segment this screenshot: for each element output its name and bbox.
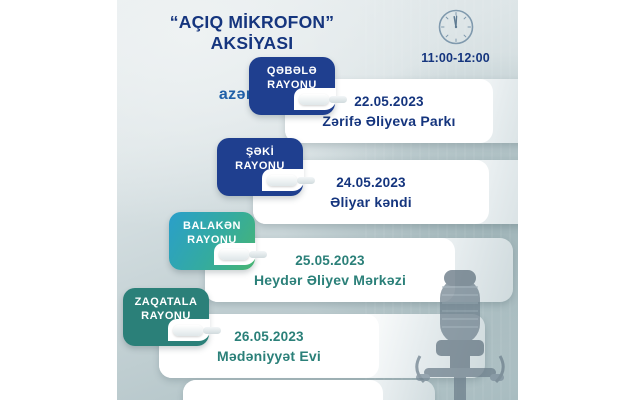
microphone-icon	[394, 256, 518, 400]
page-title: “AÇIQ MİKROFON” AKSİYASI	[127, 12, 377, 53]
event-venue: Mədəniyyət Evi	[217, 348, 321, 364]
tag-plug	[173, 325, 203, 336]
tag-plug	[267, 175, 297, 186]
district-tag[interactable]: QƏBƏLƏ RAYONU	[249, 57, 335, 115]
card-surface	[183, 380, 383, 400]
tag-plug	[299, 94, 329, 105]
tag-plug	[219, 249, 249, 260]
district-tag[interactable]: ZAQATALA RAYONU	[123, 288, 209, 346]
event-date: 25.05.2023	[295, 253, 365, 268]
district-tag[interactable]: ŞƏKİ RAYONU	[217, 138, 303, 196]
district-tag[interactable]: BALAKƏN RAYONU	[169, 212, 255, 270]
title-line-2: AKSİYASI	[127, 33, 377, 54]
clock-icon	[437, 8, 475, 46]
event-date: 24.05.2023	[336, 175, 406, 190]
event-date: 26.05.2023	[234, 329, 304, 344]
title-line-1: “AÇIQ MİKROFON”	[170, 12, 334, 32]
tag-plug-tail	[329, 96, 347, 103]
tag-plug-tail	[249, 251, 267, 258]
event-venue: Zərifə Əliyeva Parkı	[322, 113, 455, 129]
district-label-line1: BALAKƏN	[183, 220, 241, 232]
event-venue: Heydər Əliyev Mərkəzi	[254, 272, 406, 288]
tag-plug-tail	[203, 327, 221, 334]
tag-plug-tail	[297, 177, 315, 184]
district-label-line1: ŞƏKİ	[246, 146, 274, 158]
schedule-row: 24.05.2023 Əliyar kəndi ŞƏKİ RAYONU	[217, 138, 517, 222]
event-date: 22.05.2023	[354, 94, 424, 109]
poster-canvas: “AÇIQ MİKROFON” AKSİYASI azəriqaz 11:00-…	[117, 0, 518, 400]
event-venue: Əliyar kəndi	[330, 194, 412, 210]
district-label-line1: ZAQATALA	[135, 296, 198, 308]
district-label-line1: QƏBƏLƏ	[267, 65, 317, 77]
schedule-row: 22.05.2023 Zərifə Əliyeva Parkı QƏBƏLƏ R…	[249, 57, 518, 141]
